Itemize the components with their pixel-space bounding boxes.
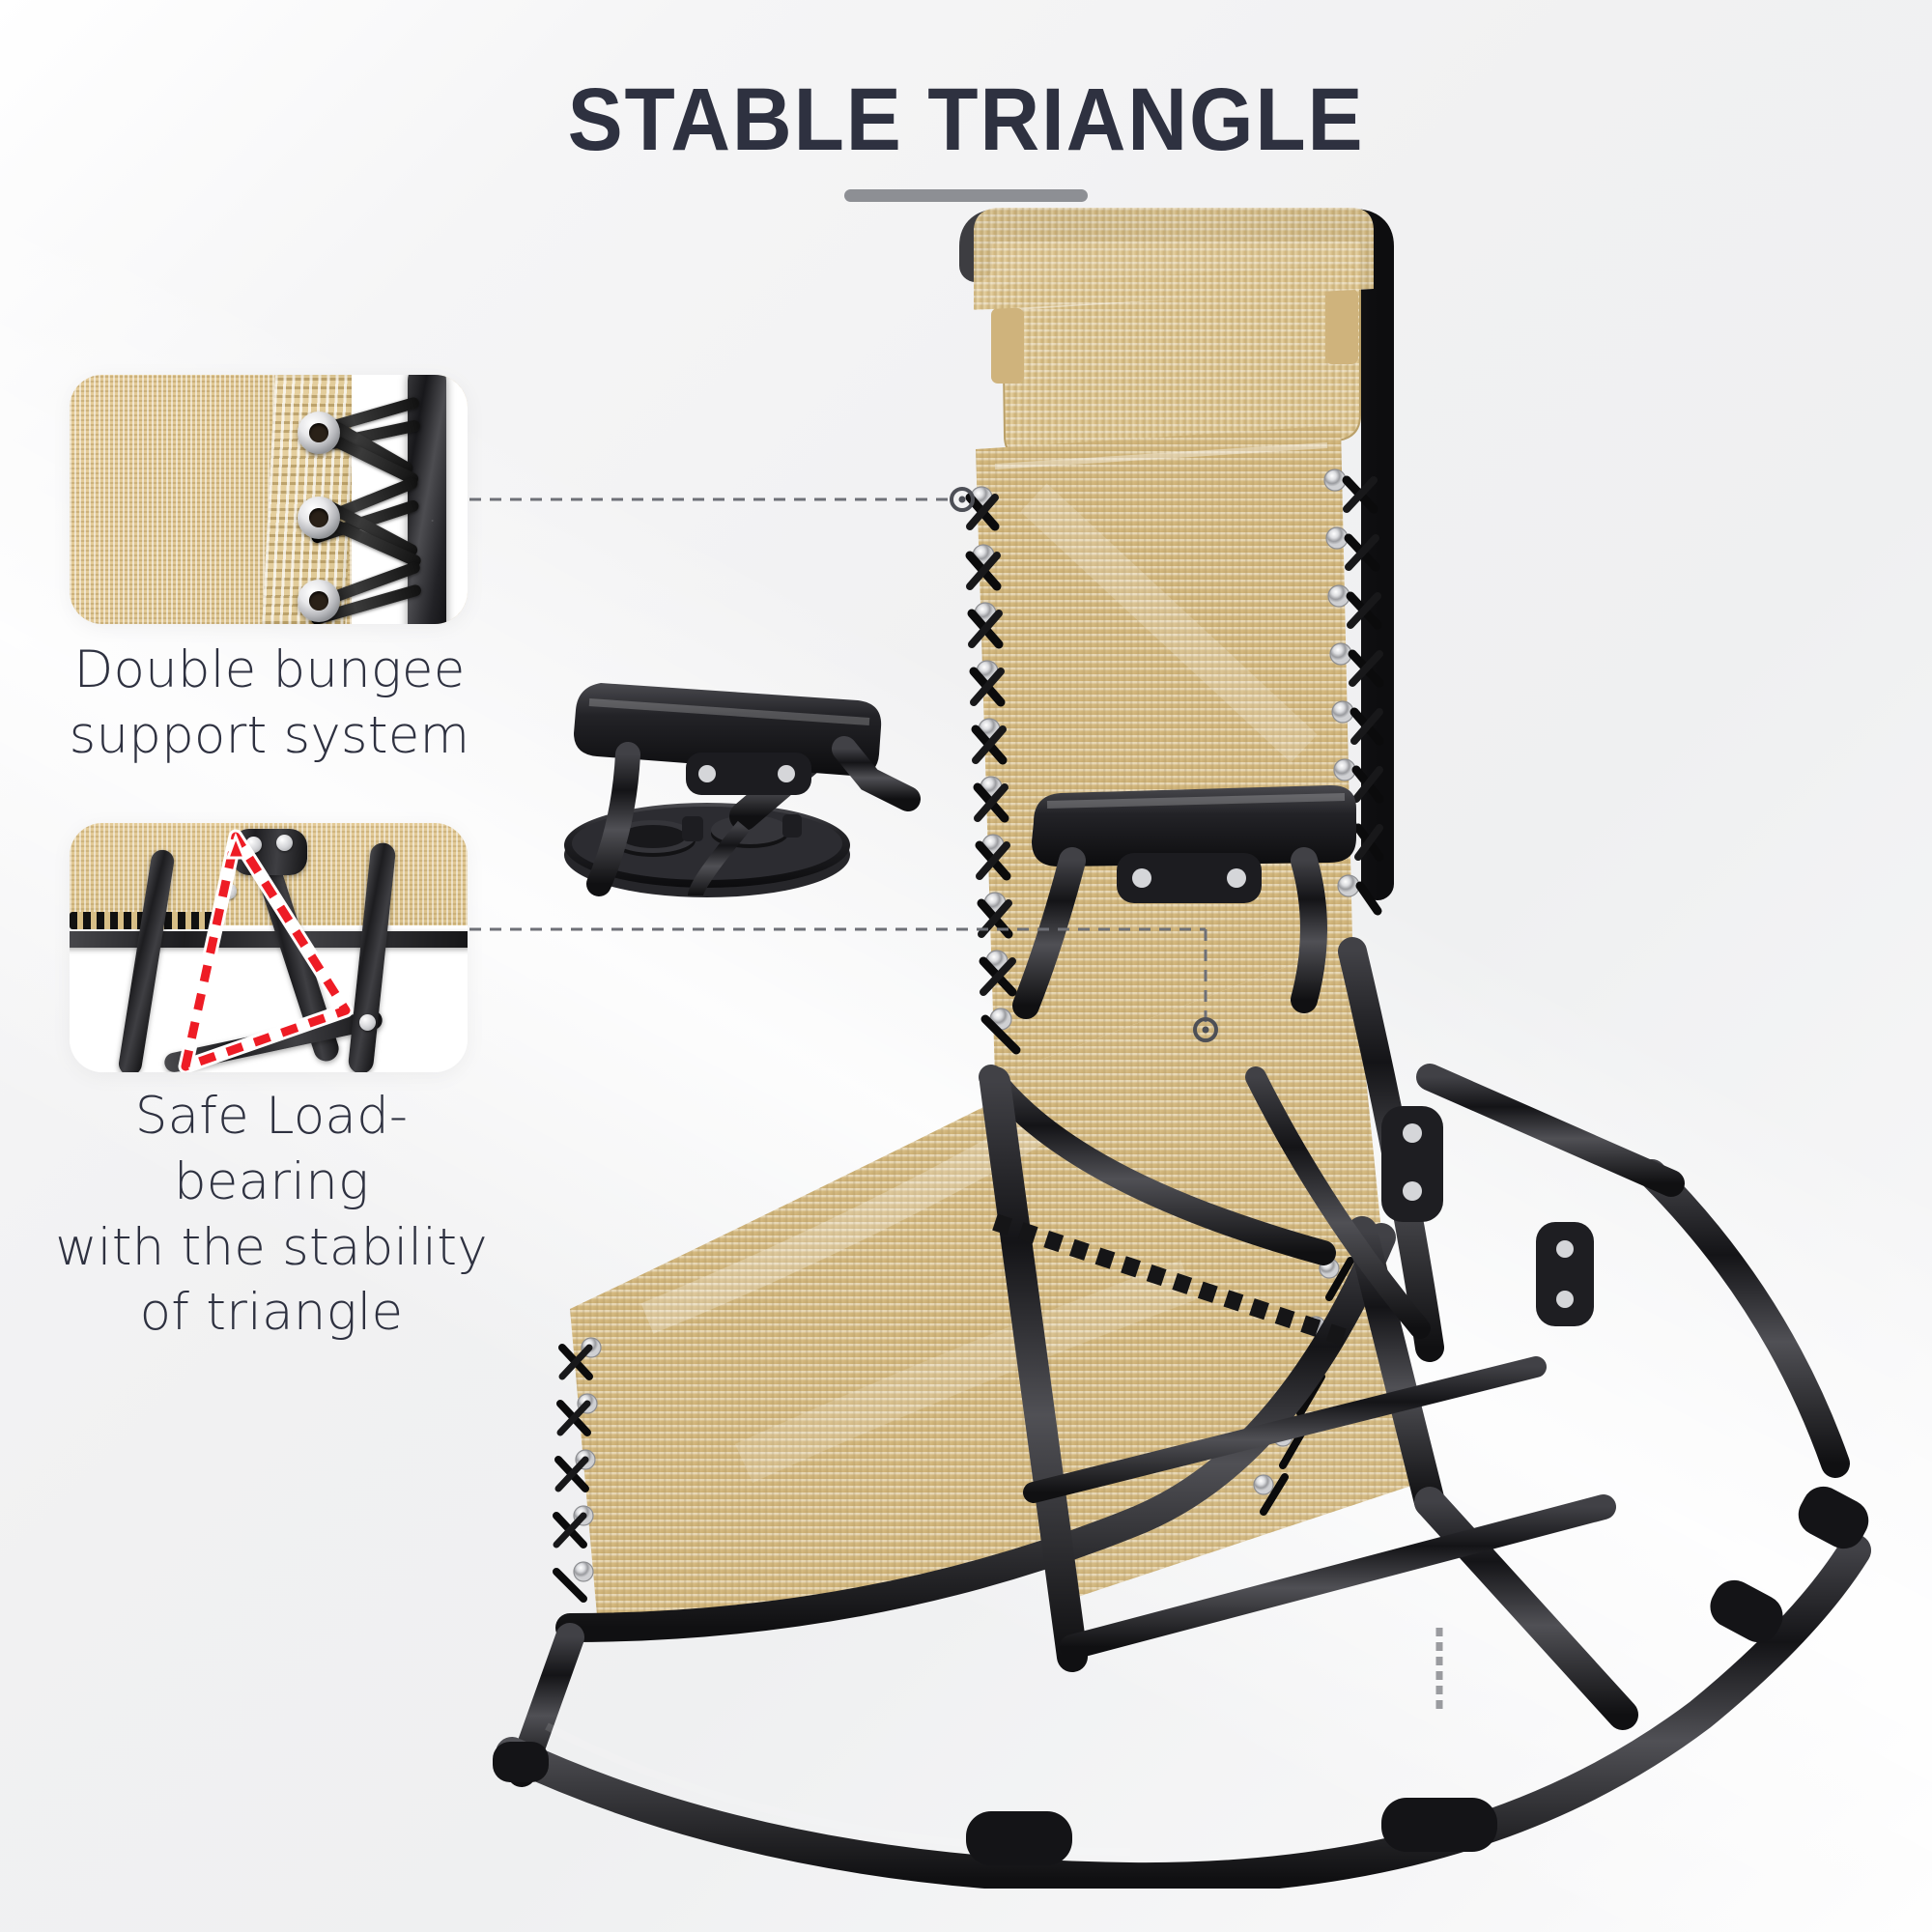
foot-cap	[493, 1742, 549, 1782]
foot-cap	[1381, 1798, 1497, 1852]
product-image	[454, 208, 1922, 1889]
page-title: STABLE TRIANGLE	[68, 70, 1864, 171]
caption-line: with the stability	[44, 1215, 498, 1281]
caption-line: Safe Load-bearing	[44, 1084, 498, 1215]
caption-line: support system	[52, 703, 487, 769]
red-dashed-triangle-icon	[70, 823, 468, 1072]
infographic-stage: STABLE TRIANGLE Double bungee support sy…	[0, 0, 1932, 1932]
pillow-strap	[991, 308, 1024, 384]
pillow-strap	[1325, 289, 1358, 364]
grommet-icon	[298, 412, 340, 454]
callout-caption-bungee: Double bungee support system	[52, 638, 487, 769]
foot-cap	[966, 1811, 1072, 1865]
grommet-icon	[298, 497, 340, 539]
caption-line: Double bungee	[52, 638, 487, 703]
grommet-icon	[298, 580, 340, 622]
caption-line: of triangle	[44, 1280, 498, 1346]
title-divider	[844, 189, 1088, 202]
callout-card-bungee	[70, 375, 468, 624]
callout-card-triangle	[70, 823, 468, 1072]
callout-caption-triangle: Safe Load-bearing with the stability of …	[44, 1084, 498, 1346]
